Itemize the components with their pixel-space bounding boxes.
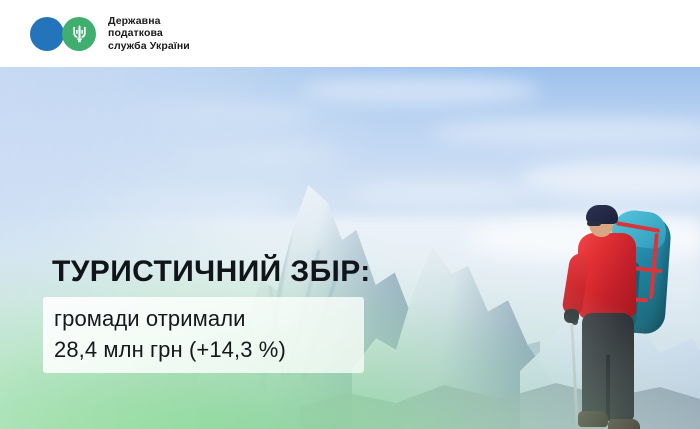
organization-name: Державна податкова служба України <box>108 15 190 52</box>
glove <box>564 309 579 323</box>
promo-banner: Державна податкова служба України <box>0 0 700 429</box>
blue-circle-icon <box>30 17 64 51</box>
cloud-shape <box>430 119 700 145</box>
leg-separation <box>606 355 610 419</box>
hiker-figure <box>556 205 676 429</box>
cloud-shape <box>20 187 280 221</box>
logo-marks <box>30 17 96 51</box>
hero-subtext: громади отримали 28,4 млн грн (+14,3 %) <box>54 303 364 365</box>
hiking-boot-left <box>578 411 608 427</box>
cloud-shape <box>350 179 530 205</box>
logo[interactable]: Державна податкова служба України <box>30 15 190 52</box>
ukraine-trident-icon <box>71 24 88 44</box>
hero-headline: ТУРИСТИЧНИЙ ЗБІР: <box>52 255 371 289</box>
cloud-shape <box>520 159 700 199</box>
cloud-shape <box>300 75 540 105</box>
green-circle-icon <box>62 17 96 51</box>
site-header: Державна податкова служба України <box>0 0 700 67</box>
hero-image: ТУРИСТИЧНИЙ ЗБІР: громади отримали 28,4 … <box>0 67 700 429</box>
hiking-boot-right <box>608 419 640 429</box>
cloud-shape <box>120 101 320 123</box>
cloud-shape <box>180 145 340 165</box>
sunglasses <box>587 221 601 226</box>
